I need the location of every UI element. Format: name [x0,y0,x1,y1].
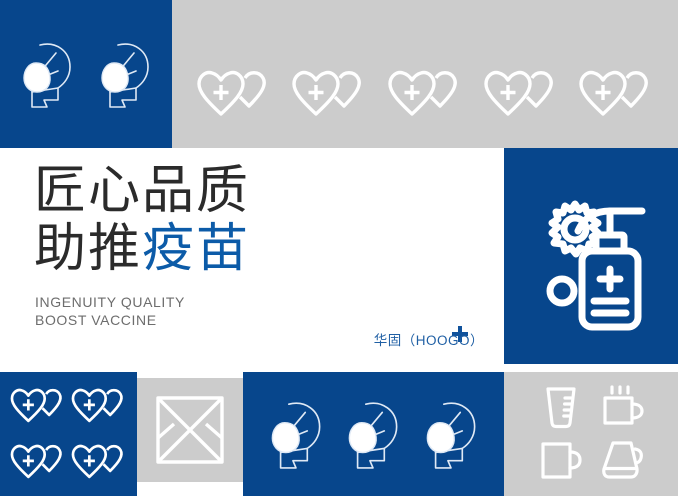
double-heart-plus-icon [386,68,464,120]
bottom-hearts-panel [0,372,137,496]
middle-band: 匠心品质 助推疫苗 INGENUITY QUALITY BOOST VACCIN… [0,148,678,364]
headline-line-2: 助推疫苗 [34,220,250,278]
masked-head-icon [92,37,158,111]
broken-image-panel [137,378,243,482]
carafe-pitcher-icon [598,439,646,483]
double-heart-plus-icon [577,68,655,120]
double-heart-plus-icon [9,442,67,482]
brand-name: 华固（HOOGO） [374,329,484,349]
masked-head-icon [339,396,407,472]
subtitle-english: INGENUITY QUALITY BOOST VACCINE [35,293,185,329]
masked-head-icon [417,396,485,472]
double-heart-plus-icon [9,386,67,426]
double-heart-plus-icon [482,68,560,120]
broken-image-placeholder-icon [154,394,226,466]
mug-icon [538,440,584,482]
headline-block: 匠心品质 助推疫苗 [34,162,250,278]
masked-head-icon [262,396,330,472]
poster-canvas: 匠心品质 助推疫苗 INGENUITY QUALITY BOOST VACCIN… [0,0,678,496]
sanitizer-bottle-icon [516,181,666,331]
double-heart-plus-icon [70,386,128,426]
bottom-vessels-panel [504,372,678,496]
masked-head-icon [14,37,80,111]
headline-panel: 匠心品质 助推疫苗 INGENUITY QUALITY BOOST VACCIN… [0,148,504,359]
top-gray-panel [172,0,678,148]
measuring-beaker-icon [541,385,581,429]
double-heart-plus-icon [195,68,273,120]
bottom-masks-panel [243,372,504,496]
bottom-band [0,372,678,496]
steaming-cup-icon [599,384,645,430]
top-blue-panel [0,0,172,148]
headline-line-2-accent: 疫苗 [142,220,250,278]
headline-line-2-dark: 助推 [34,220,142,278]
sanitizer-panel [504,148,678,364]
top-band [0,0,678,148]
headline-line-1: 匠心品质 [34,162,250,220]
double-heart-plus-icon [290,68,368,120]
double-heart-plus-icon [70,442,128,482]
